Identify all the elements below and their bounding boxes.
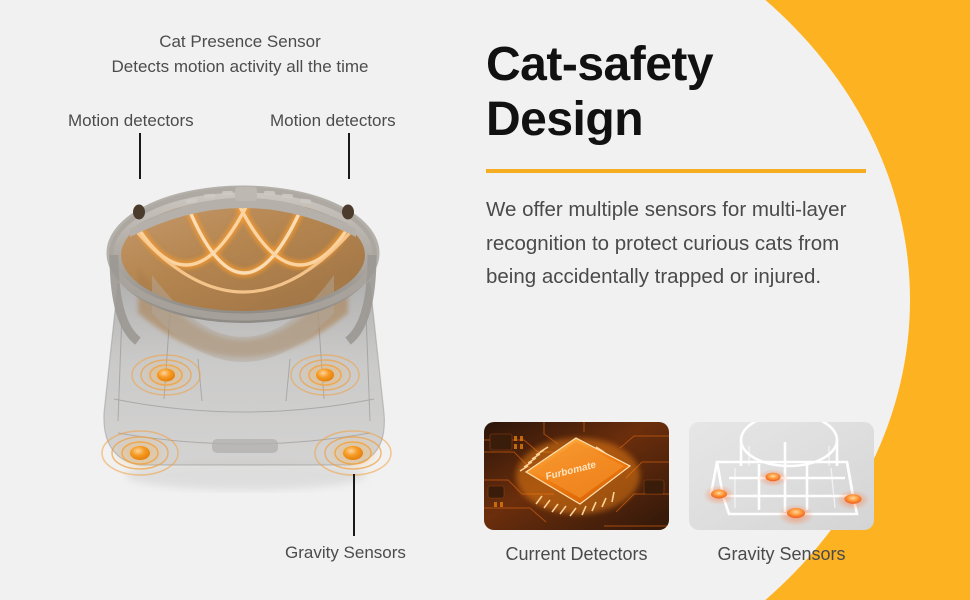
leader-line-gravity: [353, 474, 355, 536]
feature-thumbnail-row: Furbomate Current Detectors: [484, 422, 874, 565]
headline-line-1: Cat-safety: [486, 38, 713, 91]
product-feature-banner: Cat Presence Sensor Detects motion activ…: [0, 0, 970, 600]
right-content-column: Cat-safety Design We offer multiple sens…: [486, 38, 878, 314]
title-divider-rule: [486, 169, 866, 173]
thumbnail-card-gravity-sensors[interactable]: Gravity Sensors: [689, 422, 874, 565]
callout-cat-presence-title: Cat Presence Sensor: [0, 30, 480, 55]
current-detectors-image: Furbomate: [484, 422, 669, 530]
body-paragraph: We offer multiple sensors for multi-laye…: [486, 193, 886, 293]
thumbnail-caption-gravity-sensors: Gravity Sensors: [689, 544, 874, 565]
callout-motion-detectors-left: Motion detectors: [68, 109, 194, 134]
headline-line-2: Design: [486, 93, 643, 146]
gravity-sensors-image: [689, 422, 874, 530]
callout-cat-presence: Cat Presence Sensor Detects motion activ…: [0, 30, 480, 79]
callout-gravity-sensors: Gravity Sensors: [285, 541, 406, 566]
leader-line-motion-right: [348, 133, 350, 179]
thumbnail-card-current-detectors[interactable]: Furbomate Current Detectors: [484, 422, 669, 565]
callout-motion-detectors-right: Motion detectors: [270, 109, 396, 134]
product-illustration-litter-box: [78, 163, 408, 493]
page-title: Cat-safety Design: [486, 38, 878, 147]
leader-line-motion-left: [139, 133, 141, 179]
callout-cat-presence-subtitle: Detects motion activity all the time: [0, 55, 480, 80]
thumbnail-caption-current-detectors: Current Detectors: [484, 544, 669, 565]
